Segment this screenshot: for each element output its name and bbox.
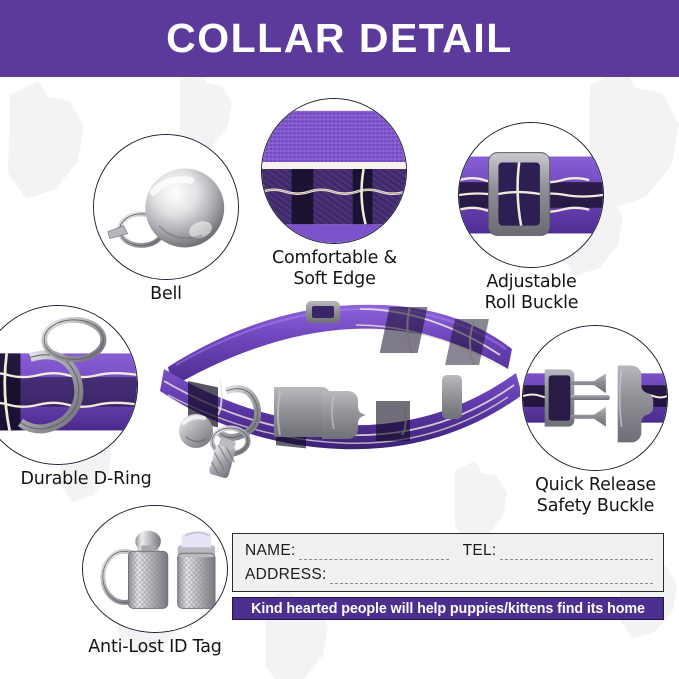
name-label: NAME: <box>245 542 296 560</box>
quick-release-buckle-circle <box>522 325 668 471</box>
id-card-message-banner: Kind hearted people will help puppies/ki… <box>232 597 664 620</box>
callout-bell: Bell <box>88 134 244 304</box>
name-input[interactable] <box>299 546 449 560</box>
callout-roll-buckle-label: Adjustable Roll Buckle <box>450 272 613 314</box>
tel-input[interactable] <box>500 546 653 560</box>
id-card: NAME: TEL: ADDRESS: <box>232 533 664 592</box>
id-card-row-name-tel: NAME: TEL: <box>245 542 653 560</box>
address-label: ADDRESS: <box>245 566 327 584</box>
callout-bell-label: Bell <box>88 284 244 305</box>
infographic-page: COLLAR DETAIL <box>0 0 679 679</box>
webbing-closeup-circle <box>261 98 407 244</box>
callout-soft-edge: Comfortable & Soft Edge <box>253 98 416 283</box>
callout-quick-release: Quick Release Safety Buckle <box>512 325 679 505</box>
product-collar-image <box>160 295 520 480</box>
bell-photo-circle <box>93 134 239 280</box>
id-card-message-text: Kind hearted people will help puppies/ki… <box>251 601 645 617</box>
callout-d-ring: Durable D-Ring <box>0 305 172 485</box>
d-ring-circle <box>0 305 138 465</box>
callout-id-tag: Anti-Lost ID Tag <box>60 505 250 665</box>
tel-label: TEL: <box>463 542 497 560</box>
callout-roll-buckle: Adjustable Roll Buckle <box>450 122 613 307</box>
page-title: COLLAR DETAIL <box>166 18 513 59</box>
address-input[interactable] <box>330 570 653 584</box>
id-tag-capsules-circle <box>82 505 228 633</box>
callout-id-tag-label: Anti-Lost ID Tag <box>60 637 250 658</box>
callout-soft-edge-label: Comfortable & Soft Edge <box>253 248 416 290</box>
id-card-row-address: ADDRESS: <box>245 566 653 584</box>
callout-d-ring-label: Durable D-Ring <box>0 469 172 490</box>
callout-quick-release-label: Quick Release Safety Buckle <box>512 475 679 517</box>
roll-buckle-circle <box>458 122 604 268</box>
header-banner: COLLAR DETAIL <box>0 0 679 77</box>
